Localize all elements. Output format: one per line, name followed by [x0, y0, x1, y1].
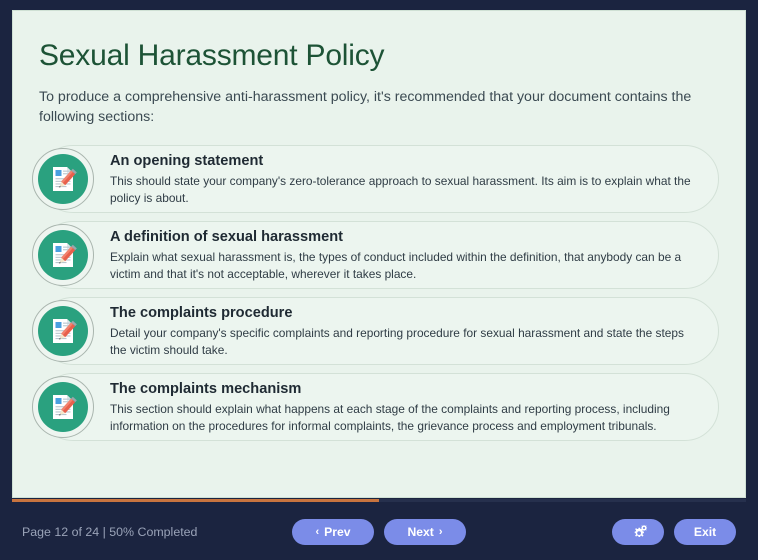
slide-content-area: Sexual Harassment Policy To produce a co…	[12, 10, 746, 498]
document-pencil-icon	[32, 300, 94, 362]
section-list: An opening statement This should state y…	[39, 145, 719, 441]
settings-button[interactable]	[612, 519, 664, 545]
document-pencil-icon	[32, 224, 94, 286]
course-progress-fill	[12, 499, 379, 502]
document-pencil-icon	[32, 376, 94, 438]
next-button[interactable]: Next ›	[384, 519, 466, 545]
list-item[interactable]: The complaints mechanism This section sh…	[39, 373, 719, 441]
page-title: Sexual Harassment Policy	[39, 39, 719, 73]
document-pencil-icon	[32, 148, 94, 210]
prev-button-label: Prev	[324, 526, 350, 538]
utility-buttons: Exit	[612, 519, 736, 545]
section-body: Explain what sexual harassment is, the t…	[110, 249, 696, 282]
list-item[interactable]: The complaints procedure Detail your com…	[39, 297, 719, 365]
section-body: Detail your company's specific complaint…	[110, 325, 696, 358]
list-item[interactable]: A definition of sexual harassment Explai…	[39, 221, 719, 289]
section-heading: The complaints mechanism	[110, 380, 696, 398]
section-body: This should state your company's zero-to…	[110, 173, 696, 206]
exit-button[interactable]: Exit	[674, 519, 736, 545]
slide-intro-text: To produce a comprehensive anti-harassme…	[39, 87, 719, 127]
next-button-label: Next	[407, 526, 433, 538]
chevron-right-icon: ›	[439, 527, 443, 538]
list-item[interactable]: An opening statement This should state y…	[39, 145, 719, 213]
section-heading: The complaints procedure	[110, 304, 696, 322]
page-status-text: Page 12 of 24 | 50% Completed	[22, 525, 197, 539]
course-player-frame: Sexual Harassment Policy To produce a co…	[0, 0, 758, 560]
course-progress-bar	[12, 499, 746, 502]
prev-button[interactable]: ‹ Prev	[292, 519, 374, 545]
player-footer-bar: Page 12 of 24 | 50% Completed ‹ Prev Nex…	[0, 504, 758, 560]
navigation-buttons: ‹ Prev Next ›	[292, 519, 466, 545]
gears-icon	[630, 525, 647, 540]
exit-button-label: Exit	[694, 526, 716, 538]
section-heading: A definition of sexual harassment	[110, 228, 696, 246]
section-heading: An opening statement	[110, 152, 696, 170]
section-body: This section should explain what happens…	[110, 401, 696, 434]
chevron-left-icon: ‹	[315, 527, 319, 538]
